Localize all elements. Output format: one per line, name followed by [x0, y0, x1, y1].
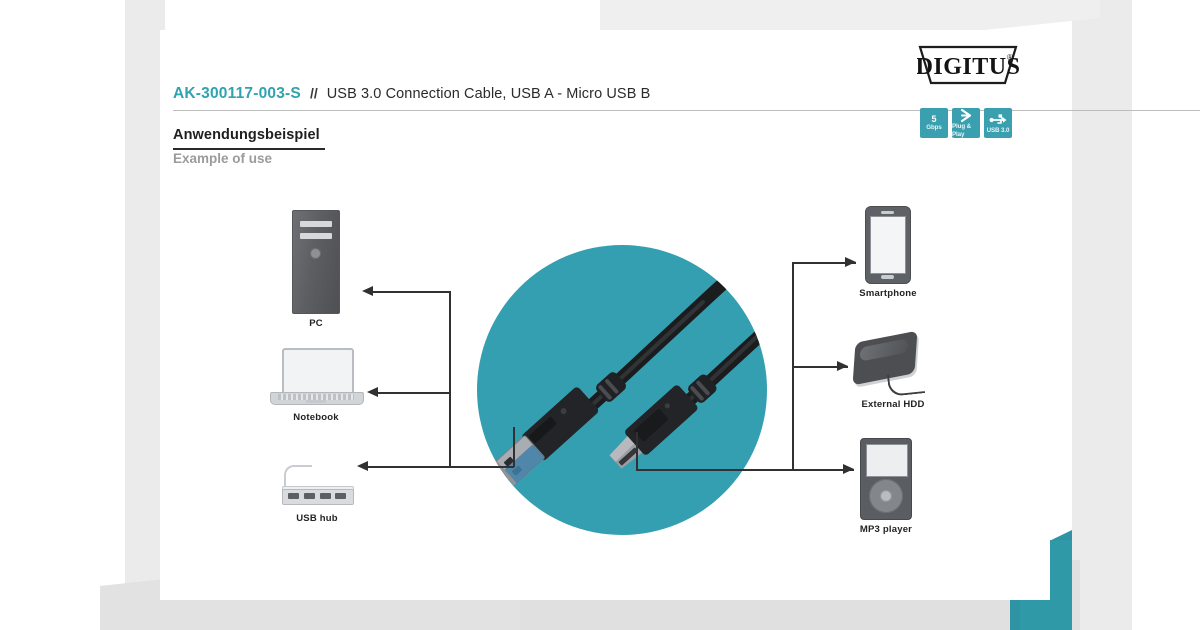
connector-drop-micro-b	[636, 432, 638, 470]
device-label-mp3-player: MP3 player	[855, 524, 917, 535]
background-band-right	[1072, 0, 1132, 630]
device-node-pc[interactable]: PC	[276, 210, 356, 329]
usb-trident-icon	[989, 112, 1008, 127]
digitus-logo: DIGITUS ®	[917, 44, 1019, 86]
connector-line-notebook	[378, 392, 450, 394]
external-hdd-icon	[852, 335, 934, 395]
mp3-player-icon	[860, 438, 912, 520]
speed-badge: 5 Gbps	[920, 108, 948, 138]
product-photo-circle	[477, 245, 767, 535]
smartphone-icon	[865, 206, 911, 284]
notebook-icon	[270, 348, 362, 408]
product-sku: AK-300117-003-S	[173, 85, 301, 103]
device-label-pc: PC	[276, 318, 356, 329]
svg-text:®: ®	[1007, 53, 1013, 62]
arrow-to-smartphone	[845, 257, 856, 267]
header-divider	[173, 110, 1200, 111]
device-label-notebook: Notebook	[270, 412, 362, 423]
device-label-external-hdd: External HDD	[848, 399, 938, 410]
section-title-underline	[173, 148, 325, 150]
usb-cable-illustration	[477, 245, 767, 535]
connector-trunk-left	[449, 291, 451, 467]
header-sku-line: AK-300117-003-S // USB 3.0 Connection Ca…	[173, 85, 1018, 103]
connector-line-pc	[373, 291, 450, 293]
device-label-usb-hub: USB hub	[278, 513, 356, 524]
feature-badges: 5 Gbps Plug & Play	[920, 108, 1012, 138]
device-node-notebook[interactable]: Notebook	[270, 348, 362, 423]
background-band-left	[125, 0, 165, 630]
connector-line-mp3-player	[636, 469, 854, 471]
connector-line-usb-hub	[368, 466, 514, 468]
section-title-en: Example of use	[173, 151, 272, 166]
device-node-smartphone[interactable]: Smartphone	[858, 206, 918, 299]
speed-badge-value: 5	[931, 115, 936, 124]
usb-hub-icon	[278, 465, 356, 509]
arrow-to-external-hdd	[837, 361, 848, 371]
device-node-mp3-player[interactable]: MP3 player	[855, 438, 917, 535]
arrow-to-pc	[362, 286, 373, 296]
product-title: USB 3.0 Connection Cable, USB A - Micro …	[327, 86, 651, 102]
device-label-smartphone: Smartphone	[858, 288, 918, 299]
connector-drop-usb-a	[513, 427, 515, 467]
usage-diagram: PC Notebook	[160, 180, 1050, 580]
speed-badge-unit: Gbps	[926, 124, 941, 132]
device-node-external-hdd[interactable]: External HDD	[848, 335, 938, 410]
device-node-usb-hub[interactable]: USB hub	[278, 465, 356, 524]
plug-and-play-label: Plug & Play	[952, 123, 980, 139]
plug-and-play-badge: Plug & Play	[952, 108, 980, 138]
pc-tower-icon	[292, 210, 340, 314]
product-sheet-card: AK-300117-003-S // USB 3.0 Connection Ca…	[160, 30, 1050, 600]
section-title-de: Anwendungsbeispiel	[173, 127, 320, 143]
arrow-to-usb-hub	[357, 461, 368, 471]
arrow-to-notebook	[367, 387, 378, 397]
svg-text:DIGITUS: DIGITUS	[917, 54, 1019, 80]
chevron-icon	[958, 108, 975, 123]
usb30-label: USB 3.0	[987, 127, 1010, 135]
separator-slashes: //	[310, 85, 318, 101]
screenshot-canvas: AK-300117-003-S // USB 3.0 Connection Ca…	[0, 0, 1200, 630]
arrow-to-mp3-player	[843, 464, 854, 474]
usb30-badge: USB 3.0	[984, 108, 1012, 138]
